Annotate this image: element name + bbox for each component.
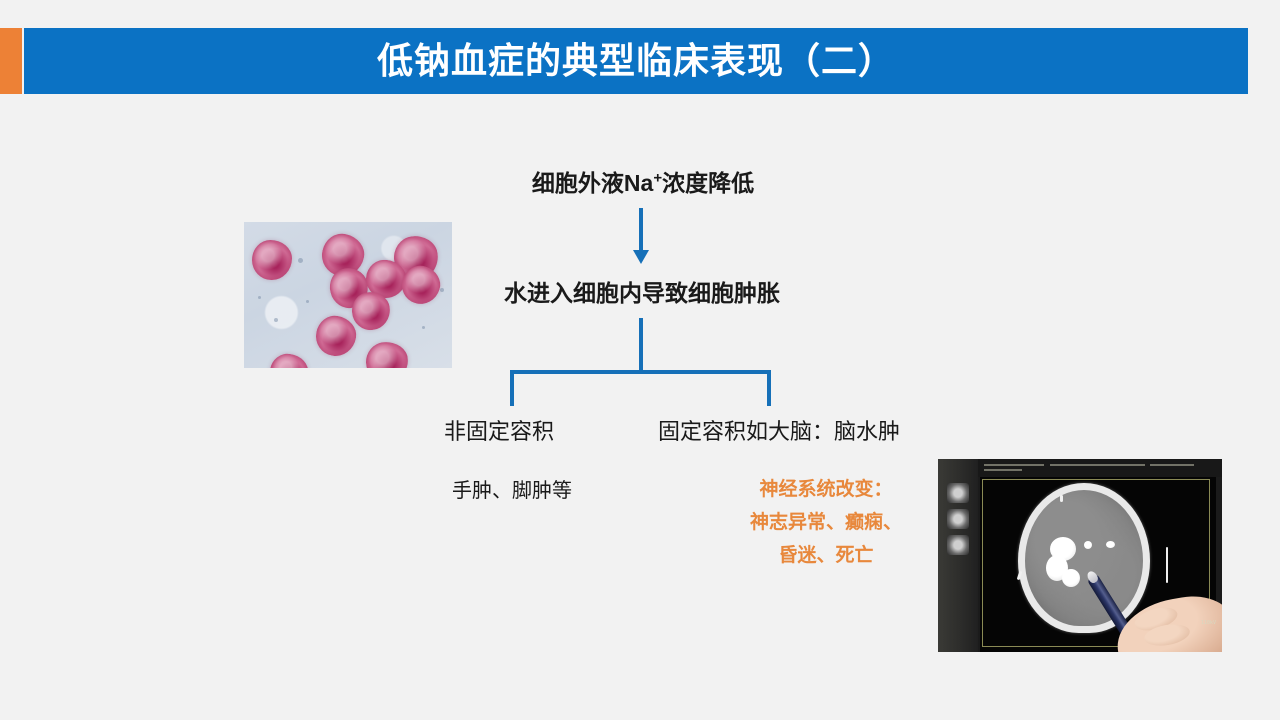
arrow-down-head-icon: [633, 250, 649, 264]
ct-reference-marker: [1060, 495, 1063, 502]
emphasis-line-1: 神经系统改变：: [712, 473, 940, 506]
swollen-cells-micrograph: [244, 222, 452, 368]
micrograph-debris: [306, 300, 309, 303]
flow-node-cell-swelling: 水进入细胞内导致细胞肿胀: [0, 274, 1280, 308]
emphasis-line-2: 神志异常、癫痫、: [712, 506, 940, 539]
branch-label-fixed-volume: 固定容积如大脑：脑水肿: [658, 414, 900, 446]
flow-node-1-prefix: 细胞外液Na: [532, 170, 653, 196]
flow-node-sodium-decrease: 细胞外液Na+浓度降低: [0, 164, 1280, 198]
fork-left-drop: [510, 370, 514, 406]
ct-header-strip: [978, 459, 1222, 477]
ct-hemorrhage-lesion: [1062, 569, 1080, 587]
ct-hemorrhage-lesion: [1106, 541, 1115, 548]
micrograph-debris: [440, 288, 444, 292]
flow-node-1-superscript: +: [653, 169, 662, 186]
page-title: 低钠血症的典型临床表现（二）: [24, 28, 1248, 94]
micrograph-debris: [298, 258, 303, 263]
ct-side-toolbar: [938, 459, 978, 652]
emphasis-line-3: 昏迷、死亡: [712, 539, 940, 572]
branch-detail-edema: 手肿、脚肿等: [452, 474, 572, 503]
slide-canvas: 低钠血症的典型临床表现（二） 细胞外液Na+浓度降低 水进入细胞内导致细胞肿胀 …: [0, 0, 1280, 720]
emphasis-neuro-symptoms: 神经系统改变： 神志异常、癫痫、 昏迷、死亡: [712, 473, 940, 572]
title-accent-bar: [0, 28, 22, 94]
flow-node-1-suffix: 浓度降低: [662, 170, 754, 196]
ct-kv-label: 110kV: [1201, 620, 1216, 626]
micrograph-debris: [258, 296, 261, 299]
arrow-down-stem: [639, 208, 643, 254]
micrograph-debris: [422, 326, 425, 329]
ct-reference-marker: [1166, 547, 1168, 583]
ct-hemorrhage-lesion: [1084, 541, 1092, 549]
fork-horizontal-bar: [510, 370, 771, 374]
branch-label-non-fixed-volume: 非固定容积: [444, 414, 554, 446]
micrograph-debris: [274, 318, 278, 322]
fork-right-drop: [767, 370, 771, 406]
fork-stem: [639, 318, 643, 374]
brain-ct-scan-photo: 110kV: [938, 459, 1222, 652]
ct-brain-parenchyma: [1025, 490, 1143, 626]
